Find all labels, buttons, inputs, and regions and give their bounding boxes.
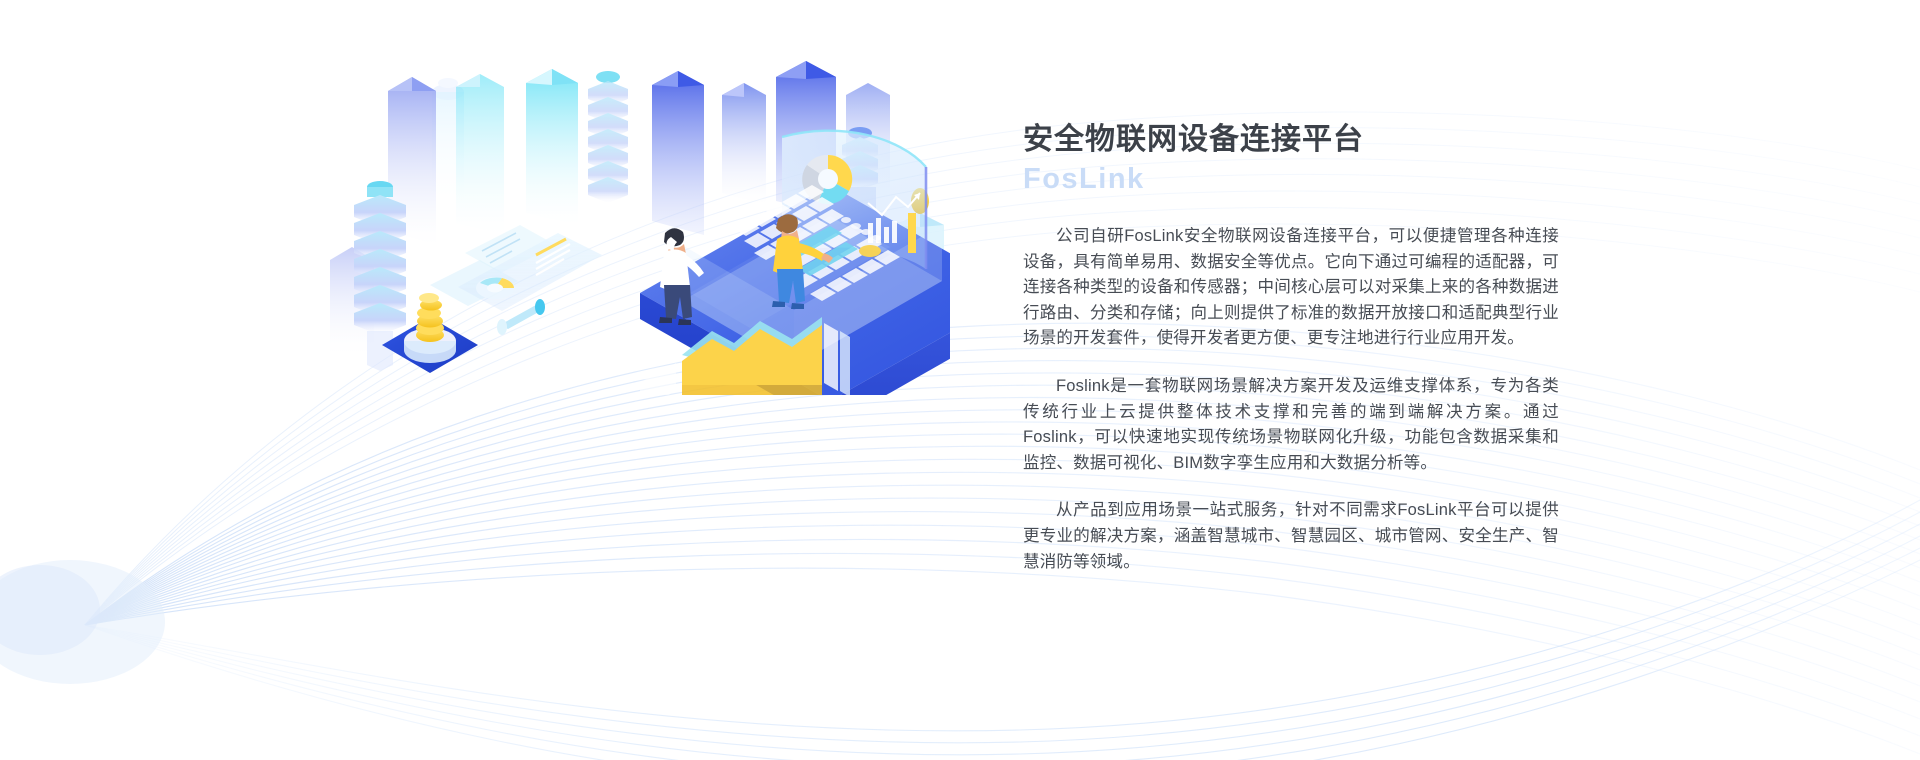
coin-stack [416,293,444,342]
content-column: 安全物联网设备连接平台 FosLink 公司自研FosLink安全物联网设备连接… [1023,120,1559,575]
tower-pagoda-center [588,71,628,203]
description-paragraph-1: 公司自研FosLink安全物联网设备连接平台，可以便捷管理各种连接设备，具有简单… [1023,224,1559,352]
pie-chart-small [476,277,514,299]
wave-pinch-highlight [0,560,165,684]
tower-cyan-1 [456,74,504,235]
isometric-smart-city-illustration [330,55,950,395]
background-wave-lines [0,0,1920,760]
page-title: 安全物联网设备连接平台 [1023,120,1559,160]
tower-blue-right-a [722,83,766,205]
coin-float-slab [859,245,881,257]
page-root: 安全物联网设备连接平台 FosLink 公司自研FosLink安全物联网设备连接… [0,0,1920,760]
hologram-panels-left [430,225,676,395]
product-name-subtitle: FosLink [1023,160,1559,198]
tower-blue-deep [652,71,704,235]
wave-fan-lower [85,500,1920,760]
tower-cyan-2 [526,69,578,225]
description-paragraph-2: Foslink是一套物联网场景解决方案开发及运维支撑体系，专为各类传统行业上云提… [1023,374,1559,476]
description-paragraph-3: 从产品到应用场景一站式服务，针对不同需求FosLink平台可以提供更专业的解决方… [1023,498,1559,575]
